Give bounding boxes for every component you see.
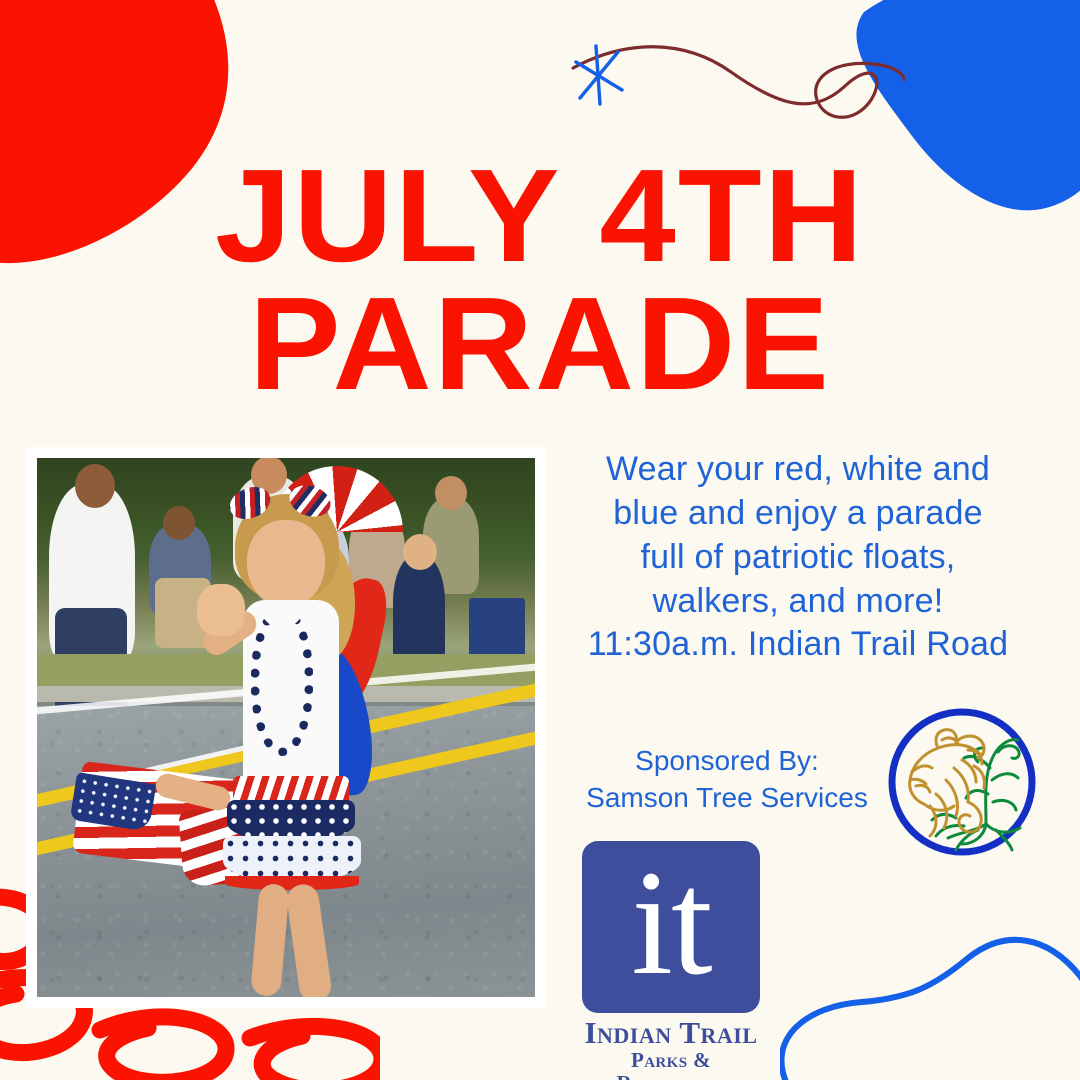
event-description: Wear your red, white and blue and enjoy … [566, 448, 1030, 667]
photo-girl-leg [285, 882, 333, 997]
description-line-1: Wear your red, white and [566, 448, 1030, 492]
photo-girl-beads [251, 606, 313, 756]
poster-canvas: JULY 4TH PARADE [0, 0, 1080, 1080]
photo-girl-face [247, 520, 325, 608]
photo-girl [207, 480, 417, 997]
page-title: JULY 4TH PARADE [0, 152, 1080, 408]
blue-asterisk-icon [570, 40, 630, 110]
blue-curve-decoration [780, 920, 1080, 1080]
description-line-5: 11:30a.m. Indian Trail Road [566, 623, 1030, 667]
samson-tree-services-logo [886, 706, 1038, 858]
red-squiggle-decoration [555, 20, 905, 150]
photo-spectator-head [435, 476, 467, 510]
sponsor-label: Sponsored By: [572, 742, 882, 779]
description-line-3: full of patriotic floats, [566, 536, 1030, 580]
photo-spectator-head [163, 506, 195, 540]
it-monogram-mark: it [582, 841, 760, 1013]
it-wordmark: Indian Trail Parks & Recreation [575, 1017, 767, 1080]
description-line-2: blue and enjoy a parade [566, 492, 1030, 536]
organization-subtitle: Parks & Recreation [575, 1049, 767, 1080]
organization-name: Indian Trail [575, 1017, 767, 1049]
title-line-1: JULY 4TH [0, 152, 1080, 280]
indian-trail-parks-recreation-logo: it Indian Trail Parks & Recreation [575, 841, 767, 1069]
sponsor-block: Sponsored By: Samson Tree Services [572, 742, 882, 816]
title-line-2: PARADE [0, 280, 1080, 408]
parade-photo [37, 458, 535, 997]
photo-girl-waving-hand [197, 584, 245, 636]
photo-spectator-head [75, 464, 115, 508]
sponsor-name: Samson Tree Services [572, 779, 882, 816]
photo-girl-leg [250, 883, 290, 997]
it-monogram-letters: it [582, 841, 760, 1013]
description-line-4: walkers, and more! [566, 580, 1030, 624]
parade-photo-frame [26, 447, 546, 1008]
